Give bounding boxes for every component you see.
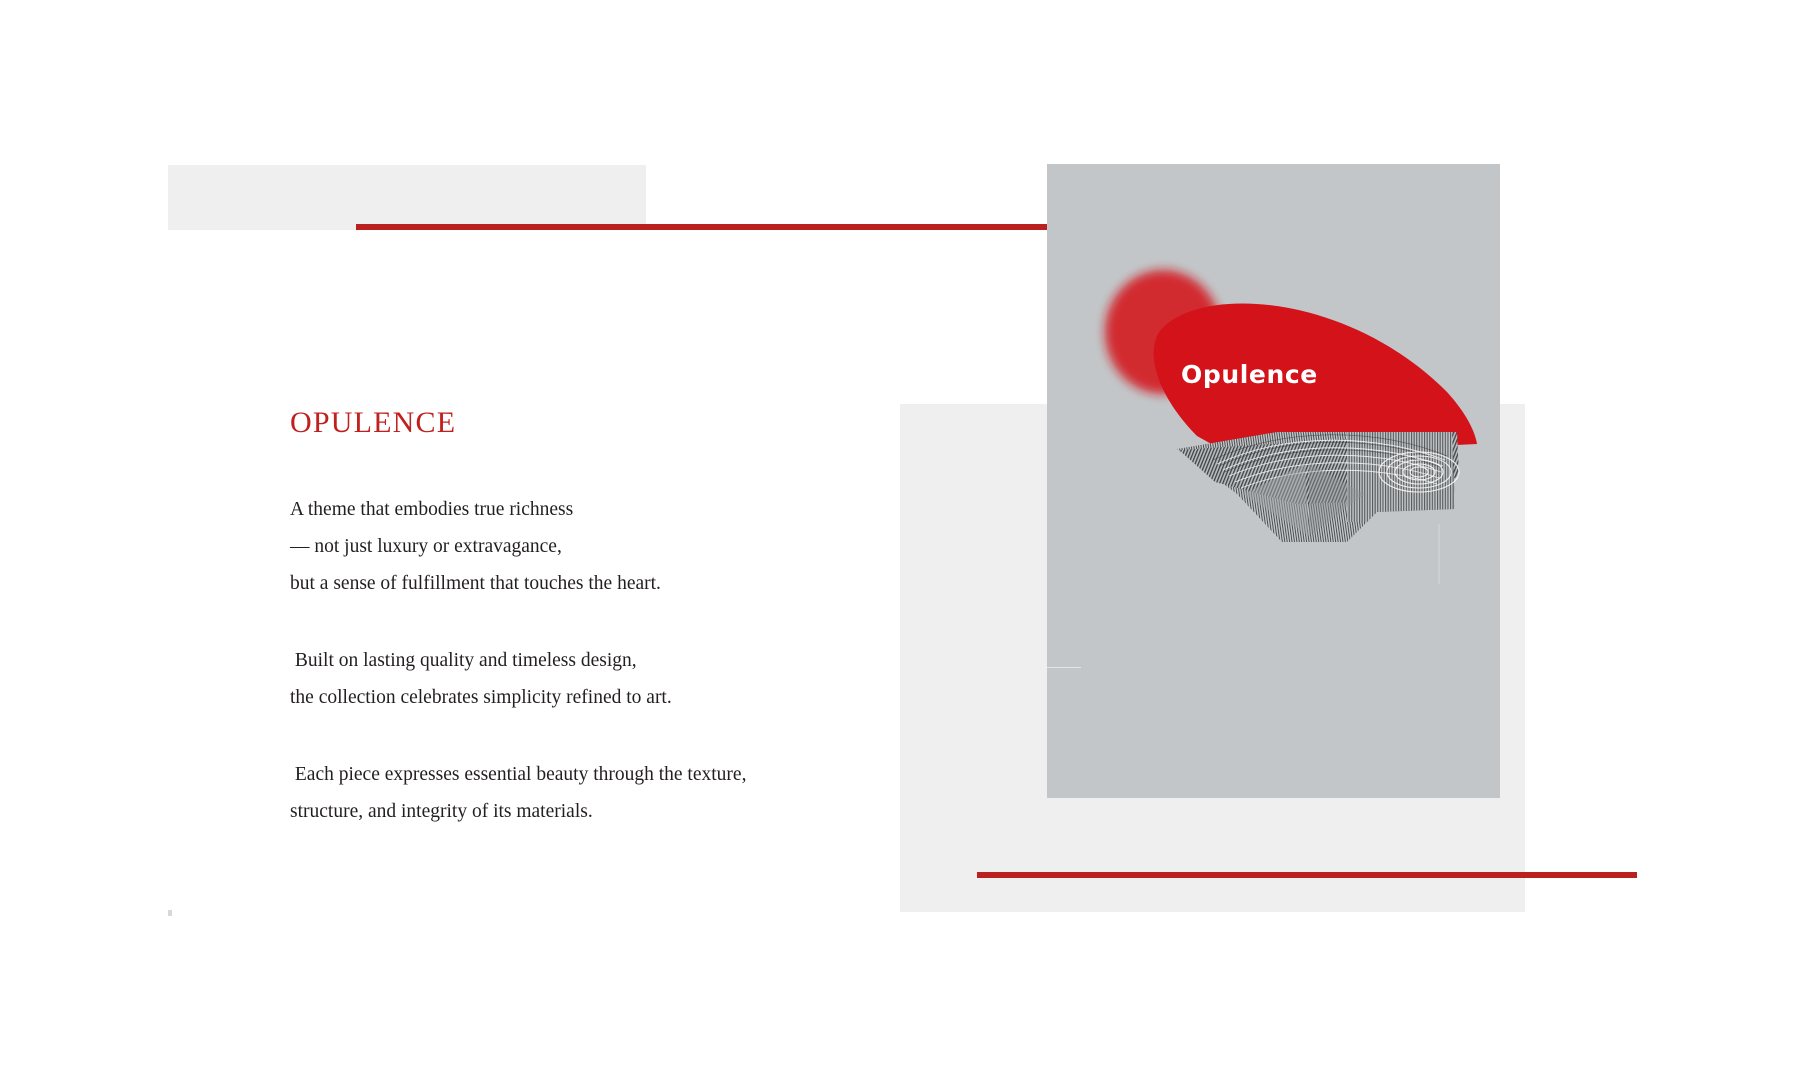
body-line: the collection celebrates simplicity ref… [290,679,830,716]
body-line: A theme that embodies true richness [290,491,830,528]
body-paragraph-3: Each piece expresses essential beauty th… [290,756,830,830]
body-paragraph-2: Built on lasting quality and timeless de… [290,642,830,716]
artwork-panel: Opulence 26–27 [1047,164,1500,798]
page-title: OPULENCE [290,408,830,438]
body-line: — not just luxury or extravagance, [290,528,830,565]
slide-canvas: OPULENCE A theme that embodies true rich… [0,0,1800,1080]
artwork-label: Opulence [1181,360,1318,389]
decor-rule-bottom [977,872,1637,878]
artwork-graphic-icon [1047,164,1500,798]
body-line: Each piece expresses essential beauty th… [290,756,830,793]
body-line: Built on lasting quality and timeless de… [290,642,830,679]
decor-rect-top-left [168,165,646,230]
body-line: but a sense of fulfillment that touches … [290,565,830,602]
decor-rule-top [356,224,1048,230]
decor-hairline [1047,667,1081,668]
corner-speck-mark [168,910,172,916]
text-column: OPULENCE A theme that embodies true rich… [290,408,830,830]
body-line: structure, and integrity of its material… [290,793,830,830]
body-paragraph-1: A theme that embodies true richness — no… [290,491,830,602]
